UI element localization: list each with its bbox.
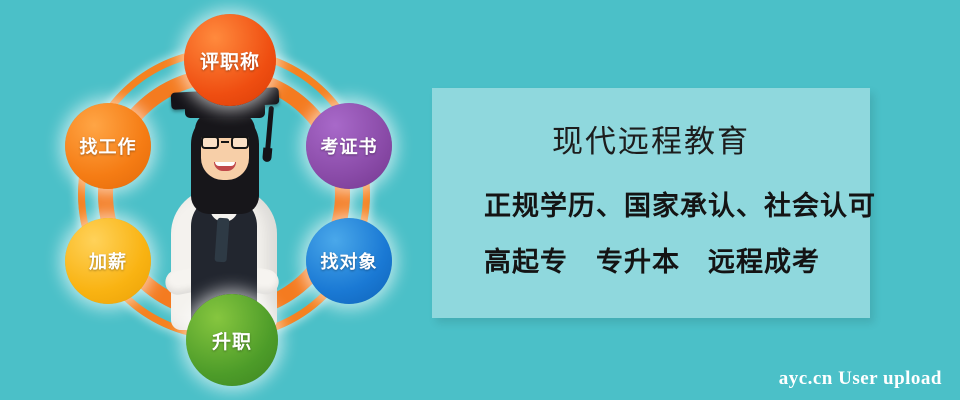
student-photo — [163, 70, 285, 330]
bubble-find-job[interactable]: 找工作 — [65, 103, 151, 189]
bubble-promotion-title[interactable]: 评职称 — [184, 14, 276, 106]
bubble-find-partner[interactable]: 找对象 — [306, 218, 392, 304]
panel-subtitle-credentials: 正规学历、国家承认、社会认可 — [484, 184, 876, 223]
panel-subtitle-programs: 高起专 专升本 远程成考 — [484, 240, 820, 279]
message-panel: 现代远程教育 正规学历、国家承认、社会认可 高起专 专升本 远程成考 — [432, 88, 870, 318]
glasses-icon — [200, 136, 250, 149]
glasses-bridge — [221, 141, 229, 143]
watermark-text: ayc.cn User upload — [779, 368, 942, 390]
circular-infographic: 评职称 找工作 加薪 考证书 找对象 升职 — [60, 0, 410, 400]
bubble-raise-salary[interactable]: 加薪 — [65, 218, 151, 304]
promotional-banner: 评职称 找工作 加薪 考证书 找对象 升职 现代远程教育 正规学历、国家承认、社… — [0, 0, 960, 400]
panel-title: 现代远程教育 — [432, 116, 870, 161]
tassel-icon — [265, 106, 274, 152]
bubble-get-promoted[interactable]: 升职 — [186, 294, 278, 386]
bubble-certificate[interactable]: 考证书 — [306, 103, 392, 189]
